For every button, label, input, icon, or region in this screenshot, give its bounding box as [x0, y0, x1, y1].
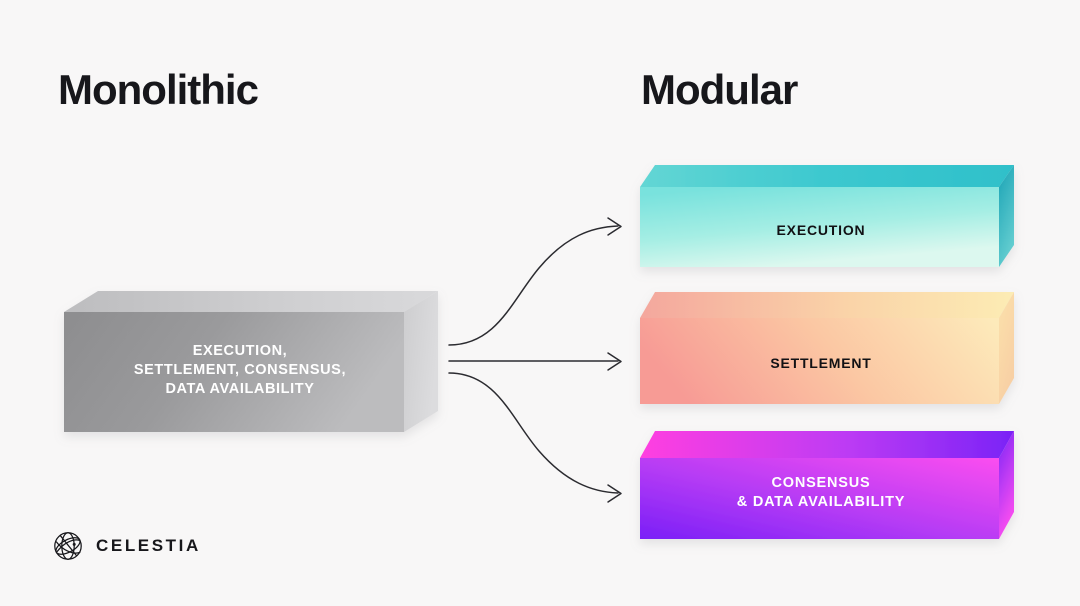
- celestia-wordmark: CELESTIA: [96, 536, 201, 556]
- consensus-slab-top: [640, 431, 1014, 458]
- execution-slab-top: [640, 165, 1014, 187]
- settlement-slab-face: [640, 318, 999, 404]
- execution-slab[interactable]: [640, 165, 1014, 267]
- slide-canvas: Monolithic Modular: [0, 0, 1080, 606]
- monolithic-slab[interactable]: [64, 291, 438, 432]
- monolithic-slab-top: [64, 291, 438, 312]
- execution-slab-face: [640, 187, 999, 267]
- arrow-to-execution: [449, 218, 621, 345]
- celestia-globe-icon: [52, 530, 84, 562]
- settlement-slab-top: [640, 292, 1014, 318]
- consensus-slab-face: [640, 458, 999, 539]
- arrow-to-consensus: [449, 373, 621, 502]
- monolithic-slab-side: [404, 291, 438, 432]
- settlement-slab[interactable]: [640, 292, 1014, 404]
- monolithic-slab-face: [64, 312, 404, 432]
- arrow-to-settlement: [449, 353, 621, 370]
- celestia-logo[interactable]: CELESTIA: [52, 530, 201, 562]
- consensus-slab[interactable]: [640, 431, 1014, 539]
- diagram-scene: [0, 0, 1080, 606]
